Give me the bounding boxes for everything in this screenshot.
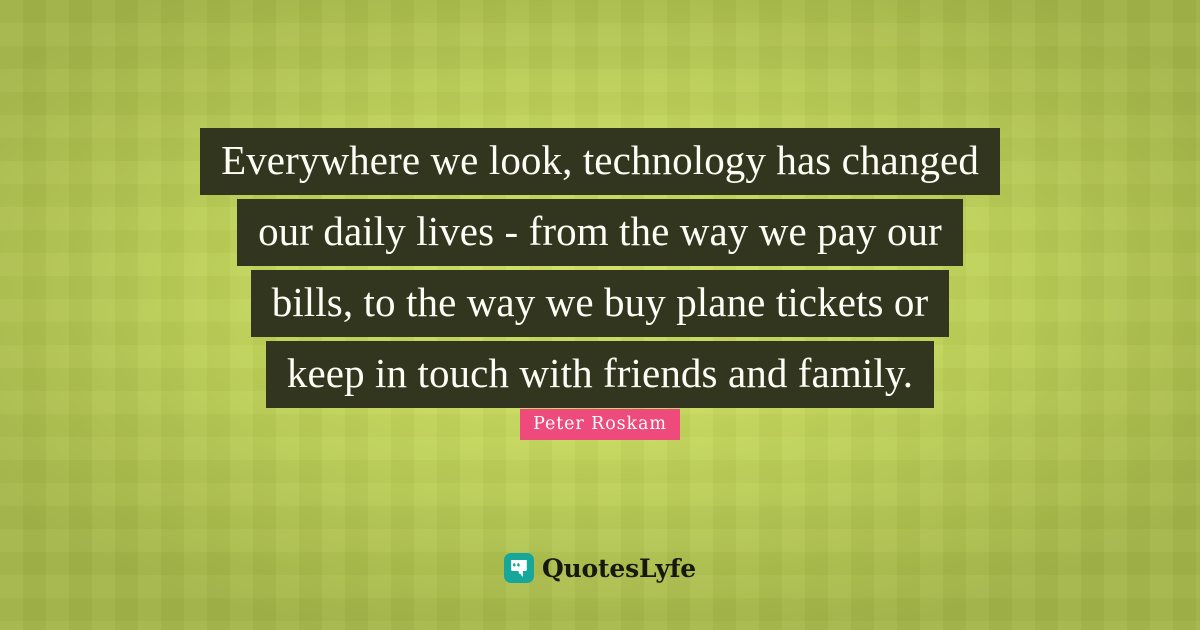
author-name-badge[interactable]: Peter Roskam xyxy=(520,409,680,440)
author-attribution: Peter Roskam xyxy=(0,409,1200,440)
quote-text-block: Everywhere we look, technology has chang… xyxy=(0,128,1200,408)
quote-card: Everywhere we look, technology has chang… xyxy=(0,0,1200,630)
quote-line: our daily lives - from the way we pay ou… xyxy=(237,199,963,266)
brand-logo[interactable]: QuotesLyfe xyxy=(0,553,1200,583)
quote-line: bills, to the way we buy plane tickets o… xyxy=(251,270,950,337)
quote-line: Everywhere we look, technology has chang… xyxy=(200,128,1000,195)
quote-bubble-icon xyxy=(504,553,534,583)
quote-line: keep in touch with friends and family. xyxy=(266,341,934,408)
brand-name: QuotesLyfe xyxy=(542,554,696,583)
